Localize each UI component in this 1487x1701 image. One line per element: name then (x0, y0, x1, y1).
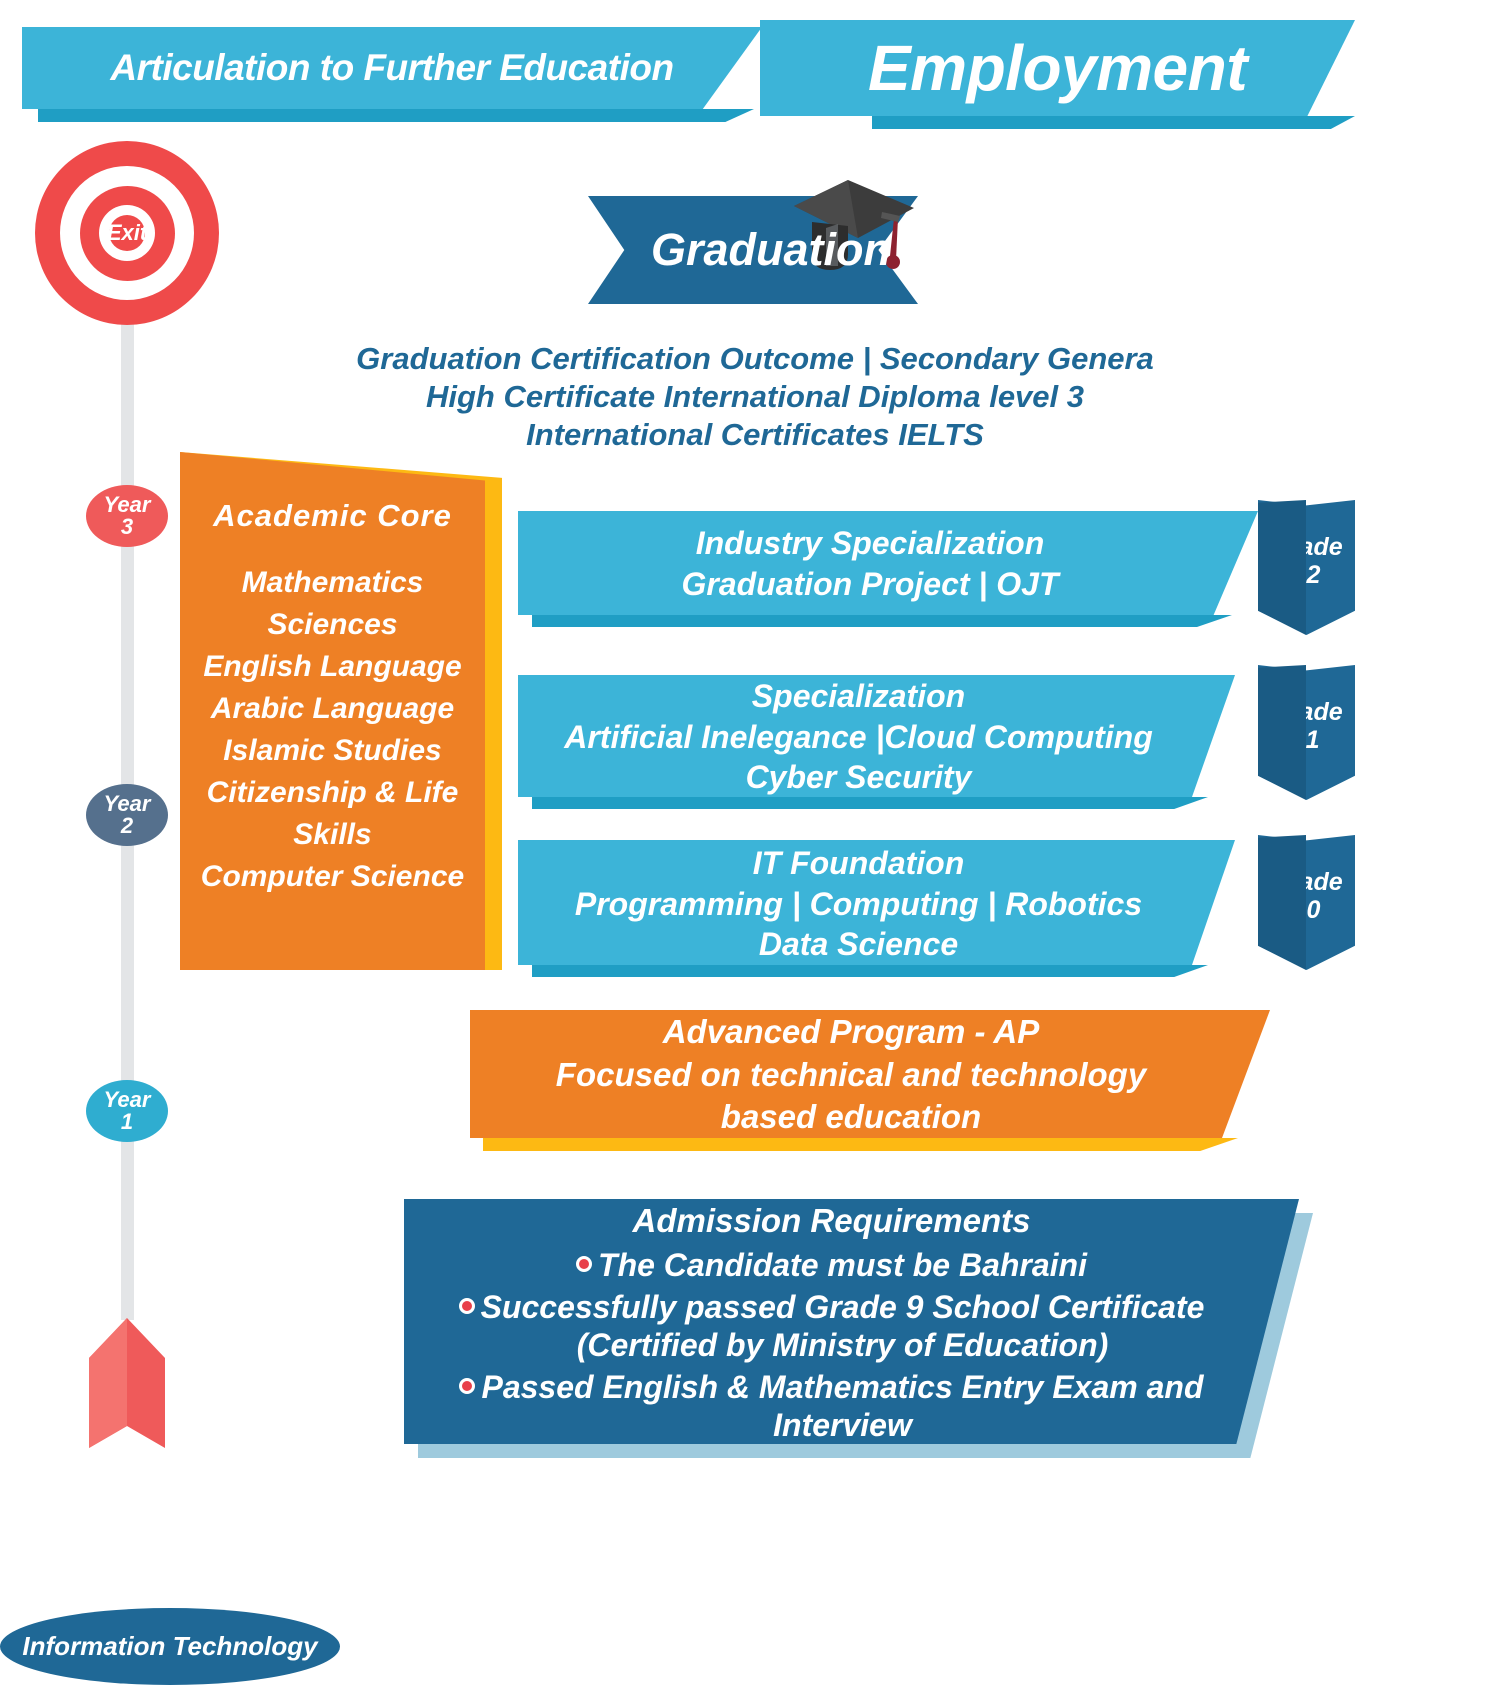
industry-box-title: Industry Specialization (696, 522, 1045, 564)
year-1-label: Year (104, 1089, 151, 1111)
academic-subject-computer-science: Computer Science (186, 856, 479, 898)
bullet-dot-icon (576, 1256, 592, 1272)
it-foundation-box-subtitle-line2: Data Science (759, 924, 958, 964)
articulation-banner[interactable]: Articulation to Further Education (22, 27, 762, 109)
specialization-box-title: Specialization (752, 675, 965, 717)
academic-subject-english: English Language (186, 646, 479, 688)
industry-specialization-box[interactable]: Industry Specialization Graduation Proje… (518, 511, 1258, 615)
specialization-box-subtitle-line1: Artificial Inelegance |Cloud Computing (564, 717, 1153, 757)
academic-core-content: Academic Core Mathematics Sciences Engli… (180, 452, 485, 970)
advanced-program-subtitle-line2: based education (721, 1096, 981, 1138)
grade-11-number: 11 (1294, 726, 1320, 754)
exit-label: Exit (35, 141, 219, 325)
year-2-number: 2 (121, 815, 133, 837)
industry-box-shadow (532, 615, 1232, 627)
employment-banner[interactable]: Employment (760, 20, 1355, 116)
admission-item-3-block: Passed English & Mathematics Entry Exam … (481, 1368, 1203, 1444)
specialization-box[interactable]: Specialization Artificial Inelegance |Cl… (518, 675, 1235, 797)
bullet-dot-icon (459, 1298, 475, 1314)
employment-banner-label: Employment (868, 31, 1247, 105)
academic-subject-islamic-studies: Islamic Studies (186, 730, 479, 772)
grade-10-number: 10 (1293, 896, 1321, 924)
academic-subject-arabic: Arabic Language (186, 688, 479, 730)
diagram-canvas: Articulation to Further Education Employ… (0, 0, 1487, 1701)
admission-item-3: Passed English & Mathematics Entry Exam … (459, 1368, 1203, 1444)
admission-item-1-text: The Candidate must be Bahraini (598, 1246, 1087, 1284)
year-marker-3[interactable]: Year 3 (86, 485, 168, 547)
academic-subject-mathematics: Mathematics (186, 562, 479, 604)
academic-subject-citizenship: Citizenship & Life Skills (186, 772, 479, 856)
admission-item-1: The Candidate must be Bahraini (576, 1246, 1087, 1284)
grade-12-label: Grade (1270, 533, 1342, 561)
grade-badge-11[interactable]: Grade 11 (1258, 665, 1355, 800)
advanced-program-box[interactable]: Advanced Program - AP Focused on technic… (470, 1010, 1270, 1138)
admission-item-3-line1: Passed English & Mathematics Entry Exam … (481, 1368, 1203, 1406)
articulation-banner-shadow (38, 109, 754, 122)
grade-12-number: 12 (1293, 561, 1321, 589)
year-3-label: Year (104, 494, 151, 516)
graduation-certification-text: Graduation Certification Outcome | Secon… (250, 340, 1260, 454)
admission-item-2-line2: (Certified by Ministry of Education) (481, 1326, 1205, 1364)
industry-box-subtitle: Graduation Project | OJT (681, 564, 1058, 604)
specialization-box-subtitle-line2: Cyber Security (746, 757, 972, 797)
admission-item-2: Successfully passed Grade 9 School Certi… (459, 1288, 1205, 1364)
admission-item-2-block: Successfully passed Grade 9 School Certi… (481, 1288, 1205, 1364)
upward-arrow-icon (89, 1318, 165, 1448)
it-foundation-box-subtitle-line1: Programming | Computing | Robotics (575, 884, 1142, 924)
advanced-program-subtitle-line1: Focused on technical and technology (556, 1054, 1146, 1096)
advanced-program-title: Advanced Program - AP (663, 1010, 1040, 1054)
grade-badge-10[interactable]: Grade 10 (1258, 835, 1355, 970)
employment-banner-shadow (872, 116, 1355, 129)
program-name-pill: Information Technology (0, 1608, 340, 1685)
it-foundation-box-shadow (532, 965, 1208, 977)
year-2-label: Year (104, 793, 151, 815)
graduation-label: Graduation (588, 196, 918, 304)
year-marker-1[interactable]: Year 1 (86, 1080, 168, 1142)
it-foundation-box[interactable]: IT Foundation Programming | Computing | … (518, 840, 1235, 965)
grade-badge-12[interactable]: Grade 12 (1258, 500, 1355, 635)
certification-line-3: International Certificates IELTS (250, 416, 1260, 454)
specialization-box-shadow (532, 797, 1208, 809)
certification-line-2: High Certificate International Diploma l… (250, 378, 1260, 416)
program-name-label: Information Technology (22, 1631, 317, 1662)
certification-line-1: Graduation Certification Outcome | Secon… (250, 340, 1260, 378)
academic-core-title: Academic Core (186, 498, 479, 534)
admission-item-2-line1: Successfully passed Grade 9 School Certi… (481, 1288, 1205, 1326)
articulation-banner-label: Articulation to Further Education (110, 47, 673, 89)
grade-10-label: Grade (1270, 868, 1342, 896)
bullet-dot-icon (459, 1378, 475, 1394)
academic-subject-sciences: Sciences (186, 604, 479, 646)
year-1-number: 1 (121, 1111, 133, 1133)
admission-title: Admission Requirements (633, 1200, 1031, 1242)
admission-item-3-line2: Interview (481, 1406, 1203, 1444)
it-foundation-box-title: IT Foundation (753, 842, 965, 884)
year-marker-2[interactable]: Year 2 (86, 784, 168, 846)
advanced-program-box-shadow (483, 1138, 1238, 1151)
year-3-number: 3 (121, 516, 133, 538)
admission-requirements-box[interactable]: Admission Requirements The Candidate mus… (404, 1199, 1299, 1444)
grade-11-label: Grade (1270, 698, 1342, 726)
